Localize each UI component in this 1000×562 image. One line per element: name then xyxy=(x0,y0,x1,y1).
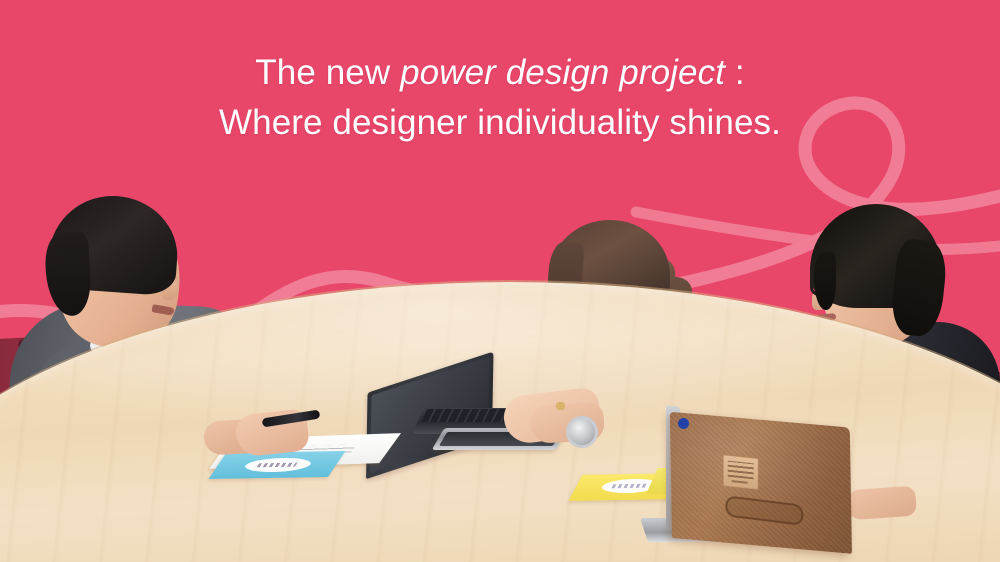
hero-banner: The new power design project : Where des… xyxy=(0,0,1000,562)
ring xyxy=(556,402,565,410)
headline-line-2: Where designer individuality shines. xyxy=(0,98,1000,148)
laptop-right-sticker xyxy=(723,454,759,490)
headline-suffix: : xyxy=(725,53,745,92)
headline-emphasis: power design project xyxy=(400,53,725,92)
person-right-hands xyxy=(845,486,917,521)
laptop-right-sticker-subtext xyxy=(732,480,748,484)
person-left-hair-side xyxy=(44,231,92,317)
headline-line-1: The new power design project : xyxy=(0,48,1000,98)
page-title: The new power design project : Where des… xyxy=(0,48,1000,147)
card-blue xyxy=(209,451,346,479)
laptop-right-lid xyxy=(670,412,852,554)
laptop-right-cardboard-texture xyxy=(670,412,852,554)
person-right-sideburn xyxy=(814,252,836,310)
headline-prefix: The new xyxy=(255,53,400,92)
wristwatch xyxy=(566,416,598,448)
card-blue-label xyxy=(241,457,315,472)
laptop-right-sticker-text xyxy=(728,461,754,480)
laptop-right-badge-dot xyxy=(678,418,689,429)
